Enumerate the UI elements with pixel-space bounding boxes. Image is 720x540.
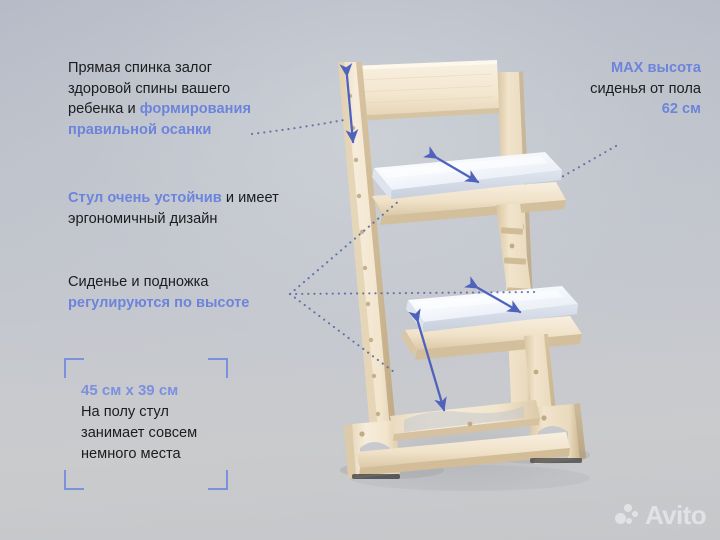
callout-max-height-title: MAX высота — [611, 60, 701, 76]
callout-max-height: MAX высота сиденья от пола 62 см — [471, 58, 701, 120]
callout-footprint-line2: занимает совсем — [81, 425, 197, 441]
frame-corner-bottom-left-icon — [64, 470, 84, 490]
callout-back-support-line2: здоровой спины вашего — [68, 81, 230, 97]
callout-footprint-dimension: 45 см x 39 см — [81, 380, 231, 401]
callout-back-support-highlight2: правильной осанки — [68, 122, 211, 138]
callout-back-support-line1: Прямая спинка залог — [68, 60, 212, 76]
callout-stability: Стул очень устойчив и имеет эргономичный… — [68, 188, 330, 229]
avito-wordmark: Avito — [645, 502, 706, 528]
callout-footprint-line1: На полу стул — [81, 404, 169, 420]
avito-watermark: Avito — [615, 502, 706, 528]
callout-adjustable: Сиденье и подножка регулируются по высот… — [68, 272, 318, 313]
callout-adjustable-highlight: регулируются по высоте — [68, 295, 249, 311]
promo-image-canvas: Прямая спинка залог здоровой спины вашег… — [0, 0, 720, 540]
callout-max-height-line2: сиденья от пола — [590, 81, 701, 97]
callout-back-support-line3: ребенка и — [68, 101, 140, 117]
callout-back-support: Прямая спинка залог здоровой спины вашег… — [68, 58, 318, 140]
callout-back-support-highlight1: формирования — [140, 101, 251, 117]
frame-corner-top-right-icon — [208, 358, 228, 378]
avito-dots-icon — [615, 504, 640, 526]
callout-stability-highlight: Стул очень устойчив — [68, 190, 222, 206]
callout-footprint-line3: немного места — [81, 446, 181, 462]
callout-stability-line2: эргономичный дизайн — [68, 211, 217, 227]
callout-adjustable-line1: Сиденье и подножка — [68, 274, 209, 290]
frame-corner-top-left-icon — [64, 358, 84, 378]
callout-footprint-text: 45 см x 39 см На полу стул занимает совс… — [81, 380, 231, 465]
frame-corner-bottom-right-icon — [208, 470, 228, 490]
callout-footprint-frame: 45 см x 39 см На полу стул занимает совс… — [64, 358, 228, 490]
callout-max-height-value: 62 см — [662, 101, 701, 117]
callout-stability-tail: и имеет — [222, 190, 279, 206]
